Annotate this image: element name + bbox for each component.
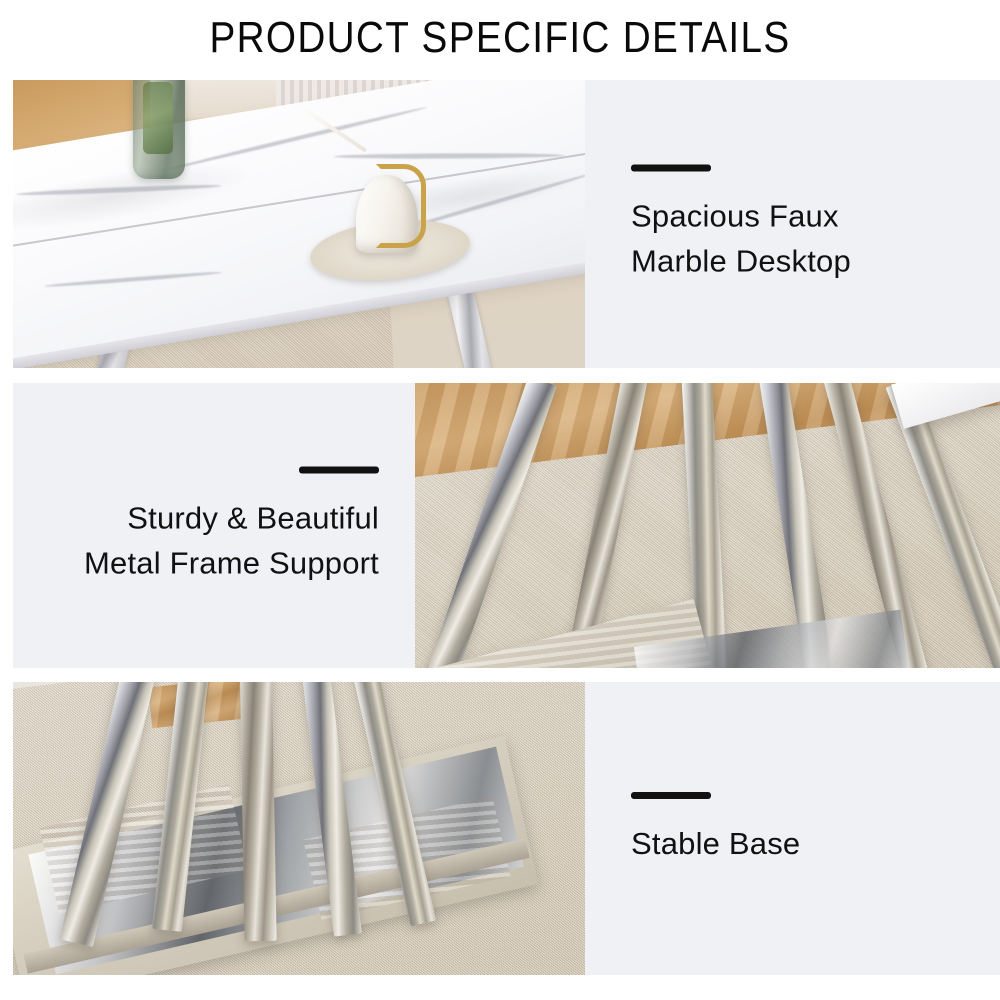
feature-caption-panel-2: Sturdy & Beautiful Metal Frame Support [13, 383, 415, 668]
marble-vein [333, 153, 565, 159]
feature-caption-panel-3: Stable Base [585, 682, 1000, 975]
feature-image-stable-base [13, 682, 585, 975]
feature-image-marble-desktop [13, 80, 585, 368]
marble-vein [167, 105, 428, 171]
accent-dash-icon [631, 792, 711, 799]
feature-caption-text-2: Sturdy & Beautiful Metal Frame Support [84, 495, 379, 585]
feature-section-stable-base: Stable Base [13, 682, 1000, 975]
chrome-leg [239, 682, 276, 941]
marble-vein [16, 183, 222, 197]
page-title: PRODUCT SPECIFIC DETAILS [60, 12, 940, 64]
accent-dash-icon [299, 466, 379, 473]
feature-section-metal-frame: Sturdy & Beautiful Metal Frame Support [13, 383, 1000, 668]
feature-caption-panel-1: Spacious Faux Marble Desktop [585, 80, 1000, 368]
feature-caption-text-1: Spacious Faux Marble Desktop [631, 194, 851, 284]
feature-section-marble-desktop: Spacious Faux Marble Desktop [13, 80, 1000, 368]
kettle-handle [376, 164, 426, 248]
feature-image-metal-frame [415, 383, 1000, 668]
accent-dash-icon [631, 165, 711, 172]
glass-vase [133, 80, 185, 179]
feature-caption-text-3: Stable Base [631, 821, 800, 866]
marble-vein [44, 271, 223, 289]
